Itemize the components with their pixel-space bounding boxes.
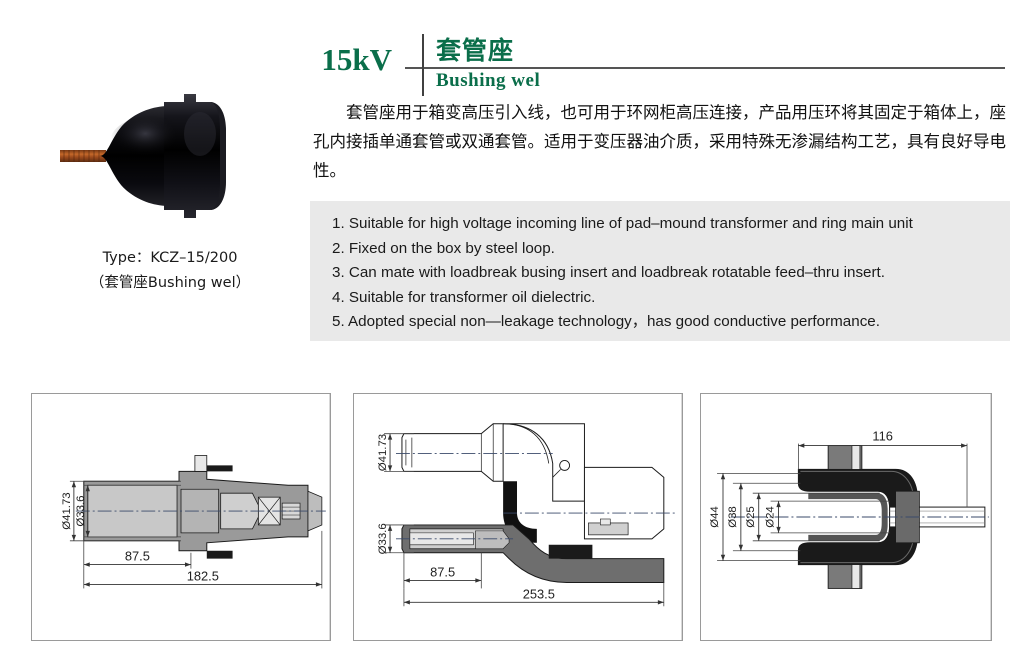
section-body <box>84 456 322 559</box>
dim-length-total: 253.5 <box>523 586 555 601</box>
features-panel: 1. Suitable for high voltage incoming li… <box>310 201 1010 341</box>
elbow-head <box>503 424 664 543</box>
bushing-well-photo <box>60 82 280 232</box>
photo-highlight <box>110 116 194 168</box>
product-photo <box>60 82 280 232</box>
dim-diameter-4: Ø24 <box>765 506 777 528</box>
features-list: 1. Suitable for high voltage incoming li… <box>310 201 1010 335</box>
upper-limb <box>402 424 503 482</box>
header-horizontal-rule <box>405 67 1005 69</box>
dim-diameter-lower: Ø33.6 <box>377 523 389 554</box>
description-paragraph: 套管座用于箱变高压引入线，也可用于环网柜高压连接，产品用压环将其固定于箱体上，座… <box>313 98 1006 185</box>
product-title-chinese: 套管座 <box>436 31 514 67</box>
elbow-assembly-drawing: Ø41.73 Ø33.6 87.5 253.5 <box>354 394 682 640</box>
front-section-drawing: 116 Ø44 Ø38 Ø25 <box>701 394 991 640</box>
drawing-panel-side-section: Ø41.73 Ø33.6 87.5 182.5 <box>31 393 331 641</box>
product-title-english: Bushing wel <box>436 70 540 92</box>
drawing-panel-front-section: 116 Ø44 Ø38 Ø25 <box>700 393 992 641</box>
dim-length-partial: 87.5 <box>430 565 455 580</box>
dim-diameter-upper: Ø41.73 <box>377 434 389 471</box>
photo-highlight-2 <box>184 112 216 156</box>
dim-diameter-2: Ø38 <box>727 506 739 528</box>
product-name-line: （套管座Bushing wel） <box>50 271 290 296</box>
dim-diameter-outer: Ø41.73 <box>61 492 73 529</box>
dim-diameter-3: Ø25 <box>745 506 757 528</box>
product-caption: Type：KCZ–15/200 （套管座Bushing wel） <box>50 246 290 296</box>
feature-item: 2. Fixed on the box by steel loop. <box>332 237 1010 262</box>
drawing-panel-elbow-assembly: Ø41.73 Ø33.6 87.5 253.5 <box>353 393 683 641</box>
dim-length-total: 182.5 <box>187 568 219 583</box>
dim-length-partial: 87.5 <box>125 549 150 564</box>
page-header: 15kV 套管座 Bushing wel <box>310 34 1010 96</box>
feature-item: 4. Suitable for transformer oil dielectr… <box>332 286 1010 311</box>
feature-item: 3. Can mate with loadbreak busing insert… <box>332 261 1010 286</box>
header-vertical-divider <box>422 34 424 96</box>
feature-item: 1. Suitable for high voltage incoming li… <box>332 212 1010 237</box>
dim-diameter-1: Ø44 <box>709 506 721 528</box>
voltage-rating: 15kV <box>310 42 392 78</box>
product-type-line: Type：KCZ–15/200 <box>50 246 290 271</box>
dim-diameter-inner: Ø33.6 <box>75 496 87 527</box>
side-section-drawing: Ø41.73 Ø33.6 87.5 182.5 <box>32 394 330 640</box>
dim-length-total: 116 <box>872 429 893 444</box>
feature-item: 5. Adopted special non—leakage technolog… <box>332 310 1010 335</box>
